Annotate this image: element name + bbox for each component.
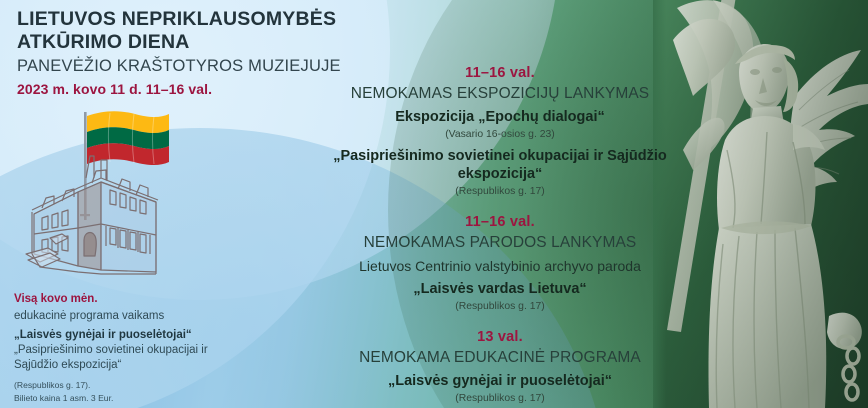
programme-item-name: Ekspozicija „Epochų dialogai“ [300,108,700,126]
programme-item-name: „Laisvės gynėjai ir puoselėtojai“ [300,372,700,390]
info-details: (Respublikos g. 17). Bilieto kaina 1 asm… [14,379,264,408]
programme-block: 11–16 val.NEMOKAMAS EKSPOZICIJŲ LANKYMAS… [300,64,700,199]
programme-block: 11–16 val.NEMOKAMAS PARODOS LANKYMASLiet… [300,213,700,314]
museum-building-illustration [6,104,196,289]
programme-list: 11–16 val.NEMOKAMAS EKSPOZICIJŲ LANKYMAS… [300,64,700,407]
info-contact: Informacija ir užsakymas tel. 8 45 59618… [14,405,264,408]
info-exposition-2: Sąjūdžio ekspozicija“ [14,358,264,374]
building-sketch [26,156,158,274]
event-date: 2023 m. kovo 11 d. 11–16 val. [17,81,347,97]
programme-item-name: „Pasipriešinimo sovietinei okupacijai ir… [300,147,700,183]
education-info-block: Visą kovo mėn. edukacinė programa vaikam… [14,292,264,408]
programme-time: 13 val. [300,328,700,347]
programme-time: 11–16 val. [300,64,700,83]
poster-root: LIETUVOS NEPRIKLAUSOMYBĖS ATKŪRIMO DIENA… [0,0,868,408]
page-title-line1: LIETUVOS NEPRIKLAUSOMYBĖS [17,8,347,31]
programme-item-name: „Laisvės vardas Lietuva“ [300,280,700,298]
programme-block: 13 val.NEMOKAMA EDUKACINĖ PROGRAMA„Laisv… [300,328,700,407]
programme-item-name: Lietuvos Centrinio valstybinio archyvo p… [300,257,700,275]
programme-time: 11–16 val. [300,213,700,232]
programme-kind: NEMOKAMA EDUKACINĖ PROGRAMA [300,348,700,368]
lithuanian-flag [87,111,169,165]
headline-block: LIETUVOS NEPRIKLAUSOMYBĖS ATKŪRIMO DIENA… [17,8,347,97]
programme-item-address: (Respublikos g. 17) [300,185,700,200]
programme-item-address: (Respublikos g. 17) [300,392,700,407]
programme-kind: NEMOKAMAS PARODOS LANKYMAS [300,233,700,253]
info-subheading: edukacinė programa vaikams [14,308,264,324]
info-heading: Visą kovo mėn. [14,292,264,308]
page-title-line2: ATKŪRIMO DIENA [17,31,347,54]
info-address: (Respublikos g. 17). [14,379,264,392]
info-exposition-1: „Pasipriešinimo sovietinei okupacijai ir [14,343,264,359]
programme-item-address: (Vasario 16-osios g. 23) [300,128,700,143]
programme-item-address: (Respublikos g. 17) [300,300,700,315]
venue-subtitle: PANEVĖŽIO KRAŠTOTYROS MUZIEJUJE [17,57,347,76]
info-price: Bilieto kaina 1 asm. 3 Eur. [14,392,264,405]
programme-kind: NEMOKAMAS EKSPOZICIJŲ LANKYMAS [300,84,700,104]
info-program-title: „Laisvės gynėjai ir puoselėtojai“ [14,327,264,343]
